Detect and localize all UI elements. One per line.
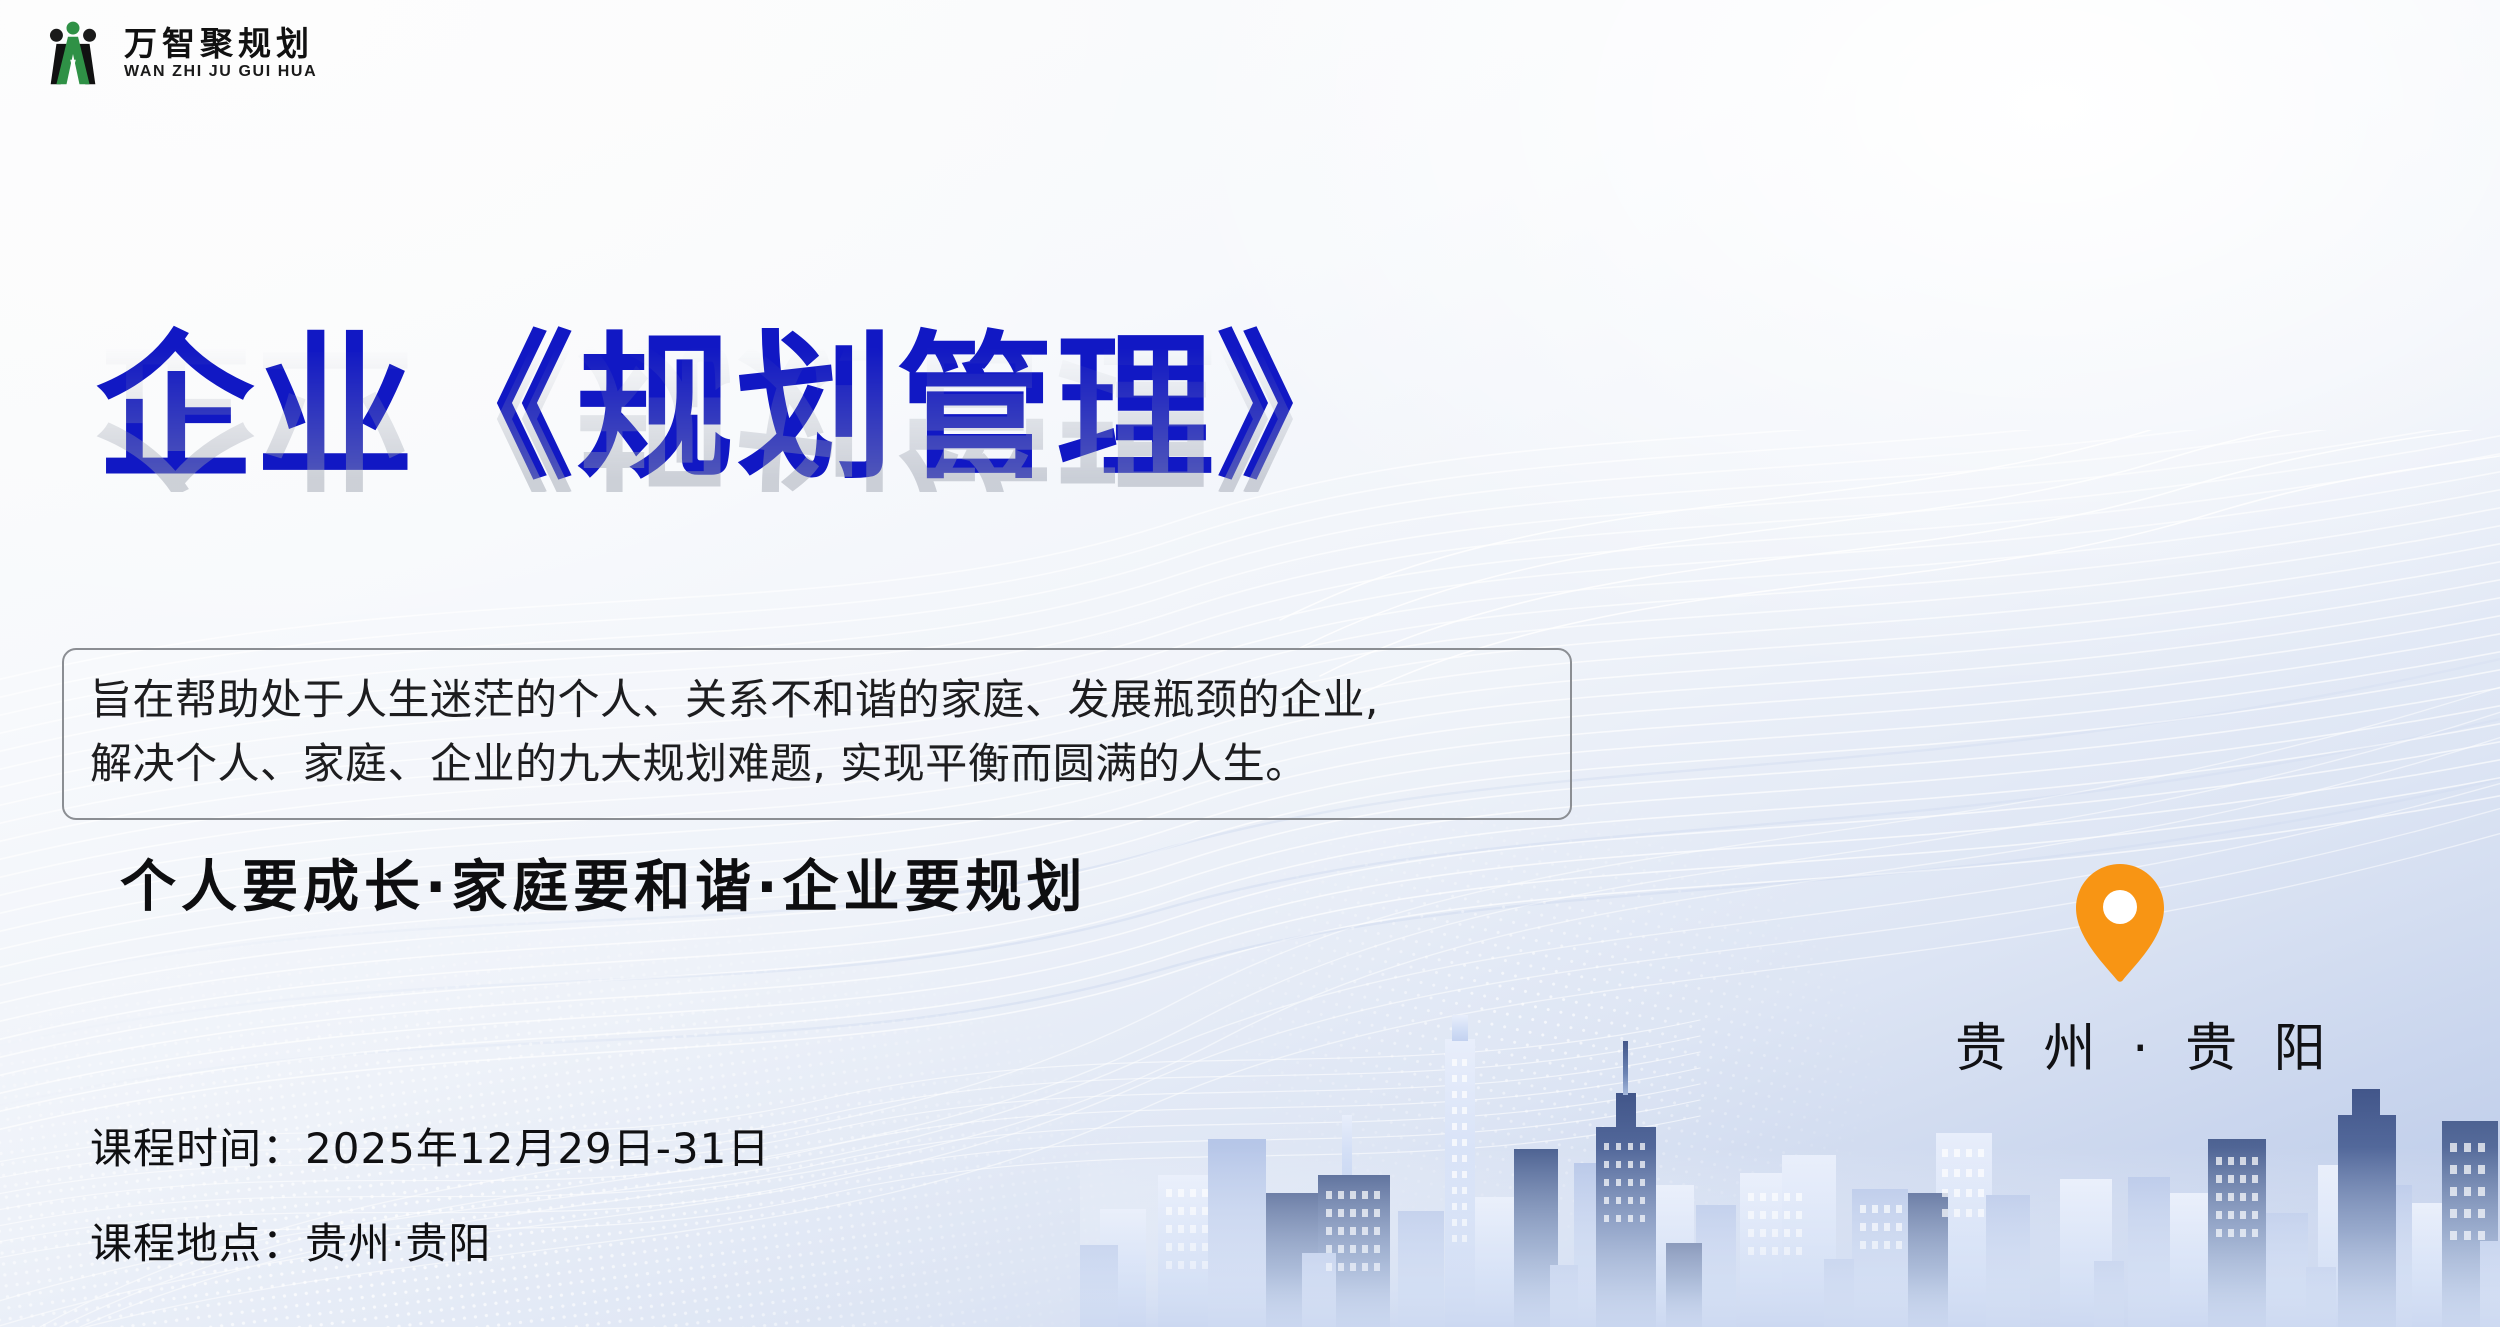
course-time: 课程时间：2025年12月29日-31日 (90, 1115, 770, 1176)
description-line-2: 解决个人、家庭、企业的九大规划难题, 实现平衡而圆满的人生。 (90, 732, 1544, 796)
description-box: 旨在帮助处于人生迷茫的个人、关系不和谐的家庭、发展瓶颈的企业, 解决个人、家庭、… (62, 648, 1572, 820)
brand-name-cn: 万智聚规划 (124, 28, 317, 63)
description-line-1: 旨在帮助处于人生迷茫的个人、关系不和谐的家庭、发展瓶颈的企业, (90, 668, 1544, 732)
hero-title-block: 企业《规划管理》 企业《规划管理》 (96, 330, 1656, 650)
promo-banner: 万智聚规划 WAN ZHI JU GUI HUA 企业《规划管理》 企业《规划管… (0, 0, 2500, 1327)
course-place: 课程地点：贵州·贵阳 (90, 1210, 770, 1271)
three-people-m-logo-icon (36, 18, 110, 90)
brand-logo[interactable]: 万智聚规划 WAN ZHI JU GUI HUA (36, 18, 317, 90)
course-info: 课程时间：2025年12月29日-31日 课程地点：贵州·贵阳 (90, 1115, 770, 1271)
location-label: 贵 州 · 贵 阳 (1955, 1006, 2285, 1081)
map-pin-icon (2072, 862, 2168, 984)
page-title-reflection: 企业《规划管理》 (96, 334, 1656, 492)
slogan-text: 个人要成长·家庭要和谐·企业要规划 (120, 842, 1088, 923)
brand-name-pinyin: WAN ZHI JU GUI HUA (124, 64, 317, 80)
location-block: 贵 州 · 贵 阳 (1955, 862, 2285, 1081)
